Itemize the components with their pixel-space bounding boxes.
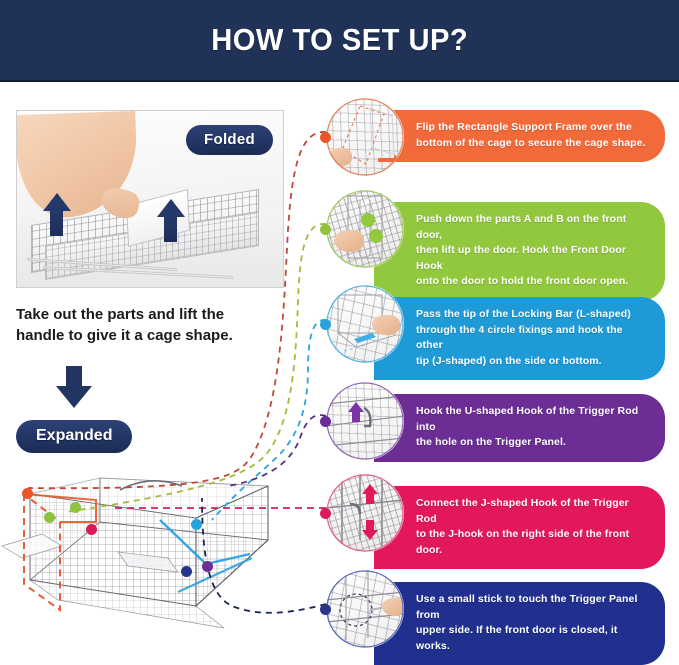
- step-4-line-2: the hole on the Trigger Panel.: [416, 435, 649, 451]
- step-2-line-2: then lift up the door. Hook the Front Do…: [416, 243, 649, 274]
- cage-dot-blue: [191, 519, 202, 530]
- step-3-line-3: tip (J-shaped) on the side or bottom.: [416, 354, 649, 370]
- step-4-bar[interactable]: Hook the U-shaped Hook of the Trigger Ro…: [374, 394, 665, 462]
- step-2-connector-dot: [320, 224, 331, 235]
- step-3-line-2: through the 4 circle fixings and hook th…: [416, 323, 649, 354]
- step-1-line-1: Flip the Rectangle Support Frame over th…: [416, 120, 649, 136]
- step-6-bar[interactable]: Use a small stick to touch the Trigger P…: [374, 582, 665, 665]
- step-4-connector-dot: [320, 416, 331, 427]
- cage-dot-purple: [202, 561, 213, 572]
- cage-dot-navy: [181, 566, 192, 577]
- instruction-text: Take out the parts and lift the handle t…: [16, 304, 284, 347]
- step-3-connector-dot: [320, 319, 331, 330]
- instruction-line-1: Take out the parts and lift the: [16, 306, 224, 323]
- step-2-hand: [334, 230, 364, 252]
- cage-dot-pink: [86, 524, 97, 535]
- page-title: HOW TO SET UP?: [211, 22, 468, 58]
- step-3-hand: [372, 315, 400, 335]
- step-5-line-1: Connect the J-shaped Hook of the Trigger…: [416, 496, 649, 527]
- infographic-root: HOW TO SET UP? Folded Take out th: [0, 0, 679, 665]
- folded-cage-photo: Folded: [16, 110, 284, 288]
- expanded-cage-diagram: [0, 460, 318, 665]
- step-3-line-1: Pass the tip of the Locking Bar (L-shape…: [416, 307, 649, 323]
- step-6-hand: [382, 598, 404, 616]
- step-1-hand: [328, 148, 352, 166]
- step-2-thumbnail[interactable]: [326, 190, 404, 268]
- step-1-line-2: bottom of the cage to secure the cage sh…: [416, 136, 649, 152]
- cage-dot-green-a: [44, 512, 55, 523]
- cage-dot-green-b: [70, 502, 81, 513]
- step-5-thumbnail[interactable]: [326, 474, 404, 552]
- expanded-badge: Expanded: [16, 420, 132, 453]
- step-5-line-3: door.: [416, 543, 649, 559]
- cage-dot-orange: [22, 488, 33, 499]
- down-arrow-icon: [54, 366, 94, 408]
- step-1-bar[interactable]: Flip the Rectangle Support Frame over th…: [374, 110, 665, 162]
- step-1-thumbnail[interactable]: [326, 98, 404, 176]
- step-5-bar[interactable]: Connect the J-shaped Hook of the Trigger…: [374, 486, 665, 569]
- folded-badge: Folded: [186, 125, 273, 155]
- step-4-line-1: Hook the U-shaped Hook of the Trigger Ro…: [416, 404, 649, 435]
- step-6-thumbnail[interactable]: [326, 570, 404, 648]
- step-3-bar[interactable]: Pass the tip of the Locking Bar (L-shape…: [374, 297, 665, 380]
- step-1-connector-dot: [320, 132, 331, 143]
- left-panel: Folded Take out the parts and lift the h…: [0, 82, 318, 665]
- page-header: HOW TO SET UP?: [0, 0, 679, 80]
- step-4-thumbnail[interactable]: [326, 382, 404, 460]
- steps-list: Flip the Rectangle Support Frame over th…: [318, 82, 679, 665]
- step-6-connector-dot: [320, 604, 331, 615]
- step-2-line-1: Push down the parts A and B on the front…: [416, 212, 649, 243]
- step-2-line-3: onto the door to hold the front door ope…: [416, 274, 649, 290]
- step-5-connector-dot: [320, 508, 331, 519]
- step-5-line-2: to the J-hook on the right side of the f…: [416, 527, 649, 543]
- step-6-line-1: Use a small stick to touch the Trigger P…: [416, 592, 649, 623]
- step-3-thumbnail[interactable]: [326, 285, 404, 363]
- step-6-line-2: upper side. If the front door is closed,…: [416, 623, 649, 654]
- step-2-bar[interactable]: Push down the parts A and B on the front…: [374, 202, 665, 301]
- instruction-line-2: handle to give it a cage shape.: [16, 325, 284, 346]
